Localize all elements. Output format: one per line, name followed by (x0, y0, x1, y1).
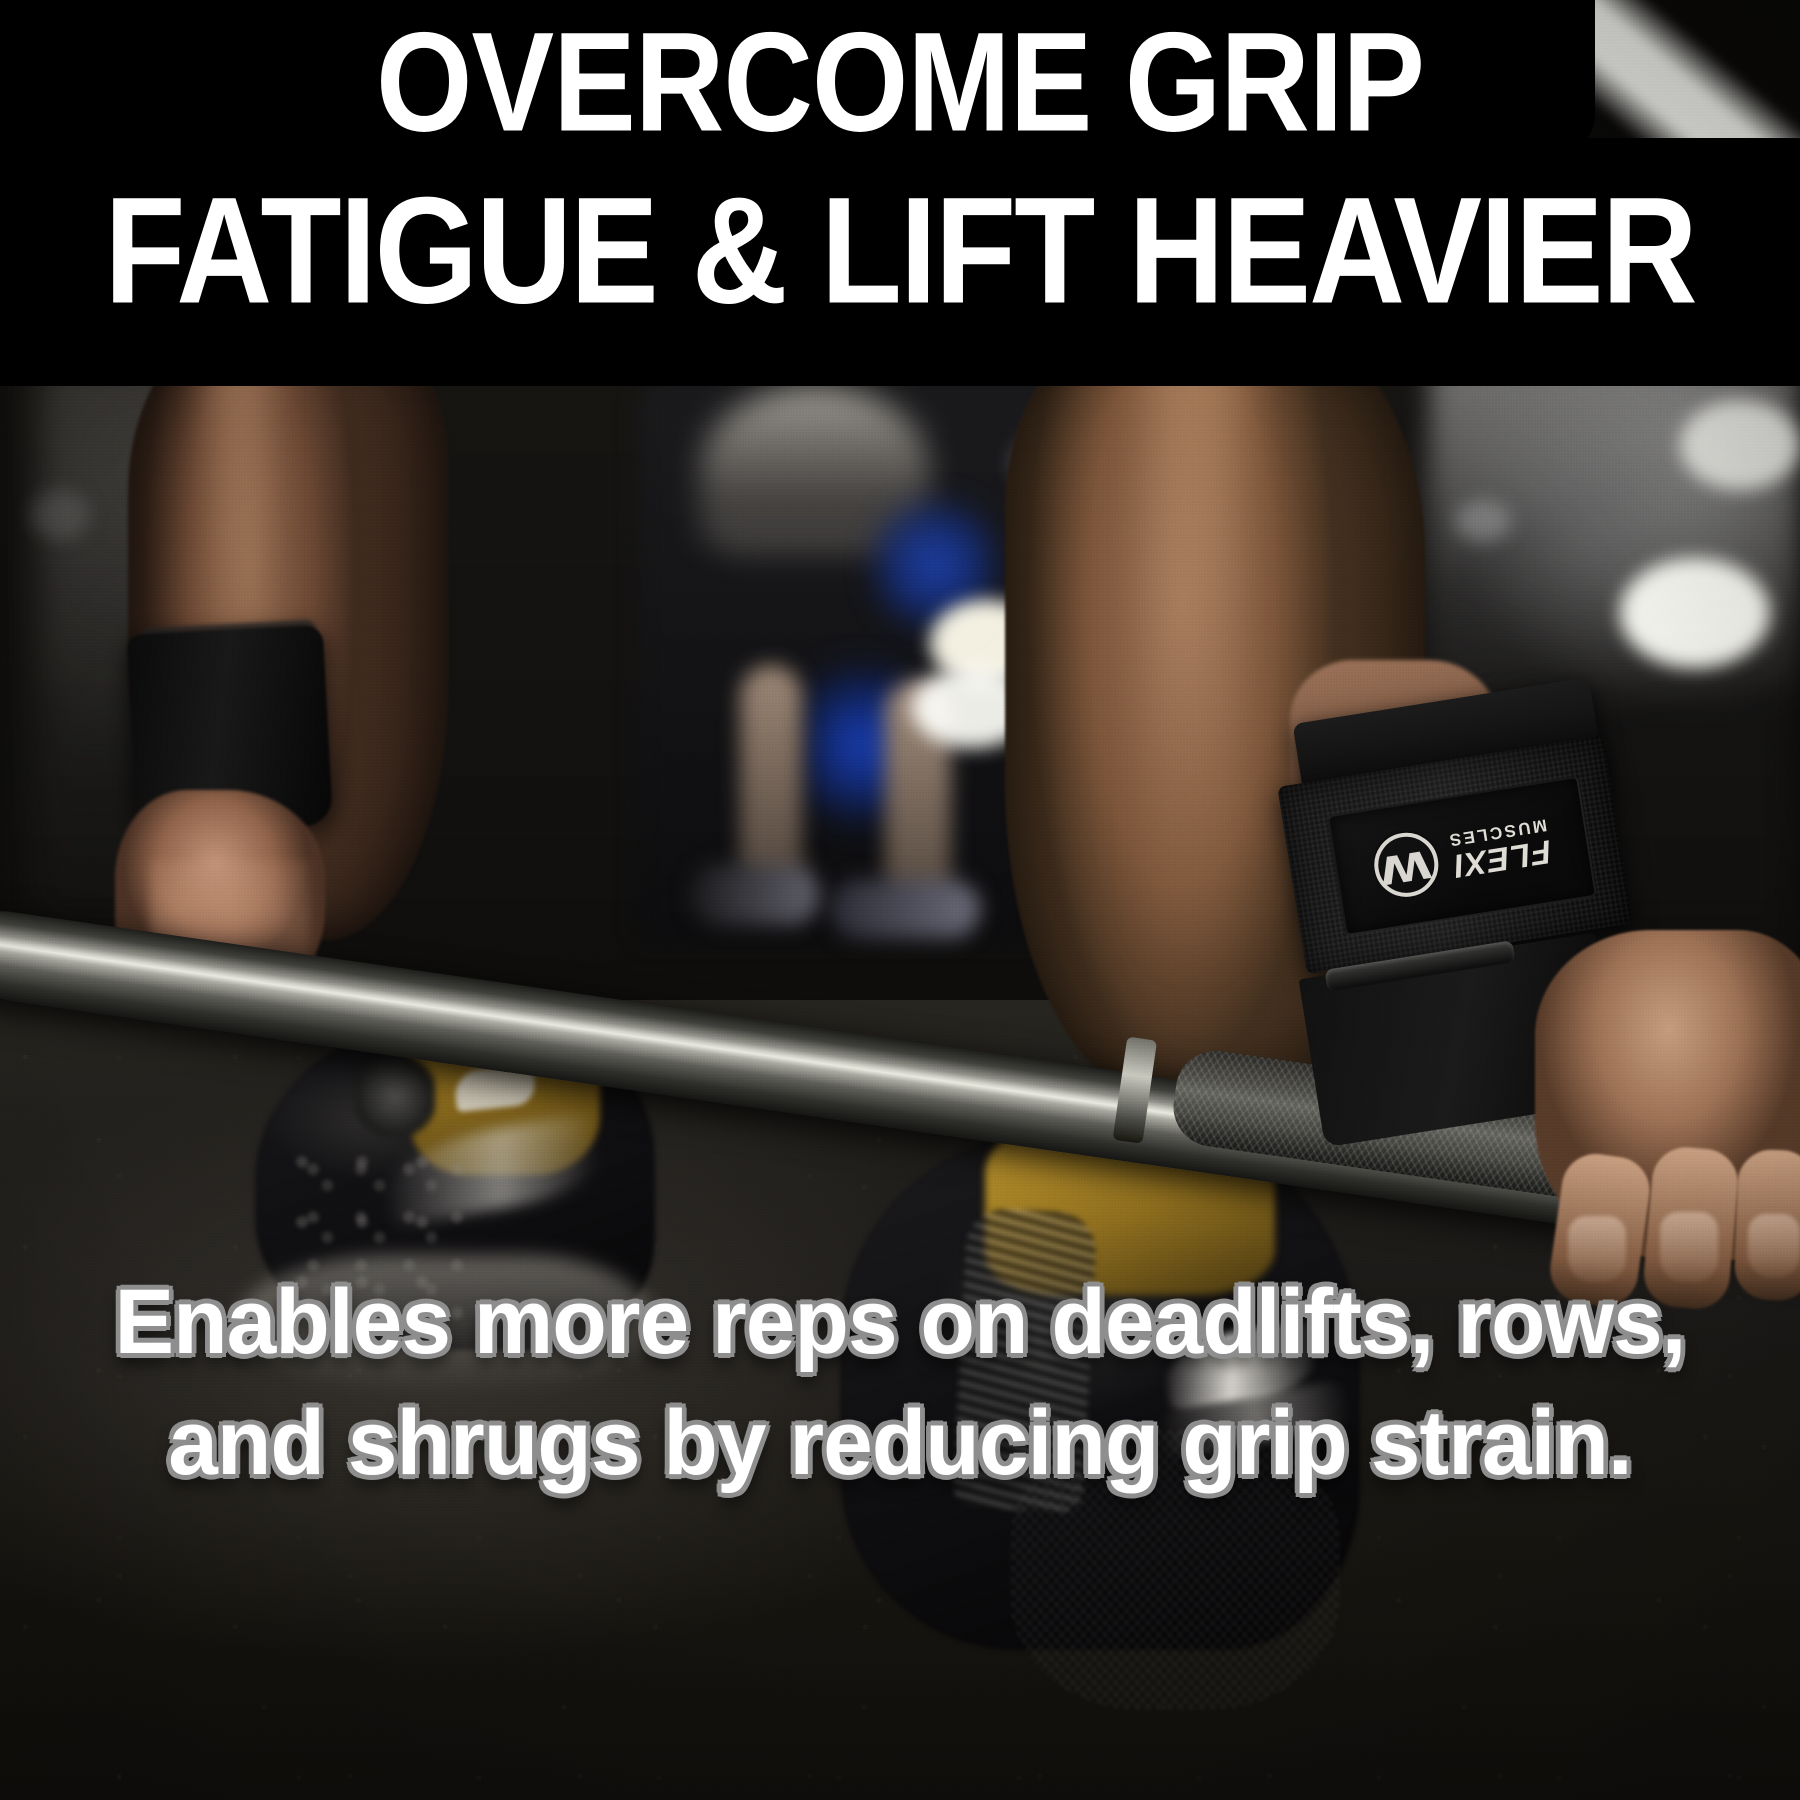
background-person-shoe-left (690, 865, 820, 925)
background-person-leg-left (740, 665, 802, 895)
shoe-right-mesh-texture (1010, 1430, 1340, 1710)
background-person-shoe-right (830, 880, 980, 938)
fingernail (1748, 1214, 1800, 1278)
calf-right-highlight (1150, 320, 1240, 960)
bokeh-light (30, 490, 90, 540)
overhead-light-streak-secondary (1600, 120, 1800, 360)
bokeh-light (1680, 400, 1800, 490)
bokeh-light (1620, 558, 1770, 668)
ad-creative: FLEXI MUSCLES W OVERCOME GRIP FATIGUE & … (0, 0, 1800, 1800)
fingernail (1660, 1212, 1718, 1282)
brand-mark-glyph: W (1380, 844, 1434, 889)
shoe-left-eyelet (355, 1055, 435, 1137)
brand-mark-icon: W (1370, 828, 1443, 901)
shoe-left-laces (290, 1150, 470, 1330)
fingernail (1568, 1216, 1626, 1282)
gym-photo-background: FLEXI MUSCLES W (0, 0, 1800, 1800)
bokeh-light (1455, 500, 1511, 542)
